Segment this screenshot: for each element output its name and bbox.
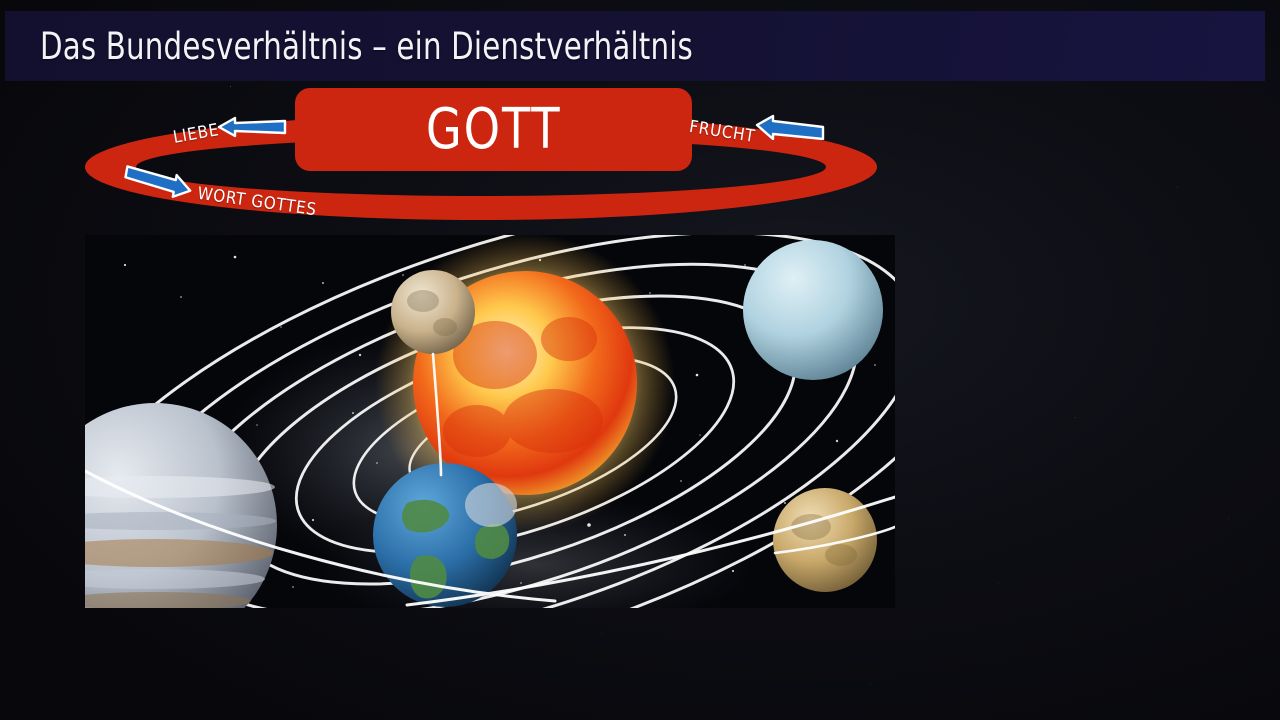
page-title: Das Bundesverhältnis – ein Dienstverhält… <box>40 25 693 68</box>
presentation-slide: Das Bundesverhältnis – ein Dienstverhält… <box>0 0 1280 720</box>
arrow-left-icon-frucht <box>753 114 825 140</box>
gott-label: GOTT <box>426 102 561 158</box>
arrow-left-icon-liebe <box>215 115 287 139</box>
solar-system-graphic <box>85 235 895 608</box>
gott-center-box: GOTT <box>295 88 692 171</box>
slide-title-bar: Das Bundesverhältnis – ein Dienstverhält… <box>5 11 1265 81</box>
covenant-cycle-diagram: GOTT LIEBE FRUCHT WORT GOTTES <box>85 82 900 232</box>
solar-system-image <box>85 235 895 608</box>
